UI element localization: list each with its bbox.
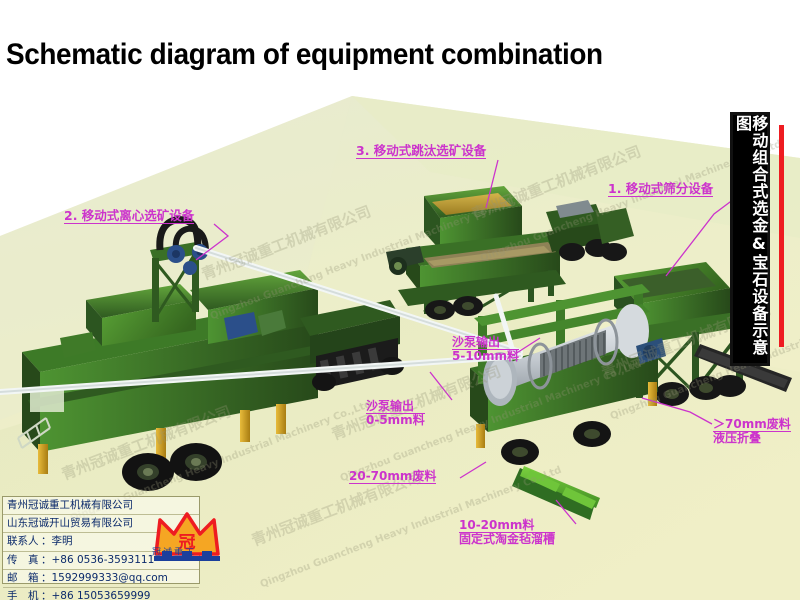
vertical-caption-text: 移动组合式选金&宝石设备示意图 — [734, 115, 767, 363]
callout-label-3: 3. 移动式跳汰选矿设备 — [356, 144, 486, 159]
contact-person-value: ：李明 — [41, 535, 73, 547]
flow-label-waste-over-70: ＞70mm废料 液压折叠 — [713, 418, 791, 446]
contact-mobile-key: 手 机 — [7, 588, 41, 600]
accent-red-bar — [779, 125, 784, 347]
flow-label-line1: 沙泵输出 — [366, 399, 414, 413]
flow-label-line2: 液压折叠 — [713, 431, 791, 445]
company-logo: 冠 冠诚重工 — [150, 508, 224, 570]
crown-logo-icon: 冠 — [150, 508, 224, 570]
contact-row-email[interactable]: 邮 箱：1592999333@qq.com — [3, 570, 199, 588]
vertical-caption-bar: 移动组合式选金&宝石设备示意图 — [730, 112, 770, 366]
contact-email-value[interactable]: ：1592999333@qq.com — [41, 572, 168, 584]
logo-caption: 冠诚重工 — [152, 545, 196, 558]
contact-person-key: 联系人 — [7, 533, 41, 550]
flow-label-line2: 5-10mm料 — [452, 349, 519, 363]
flow-label-sluice-10-20: 10-20mm料 固定式淘金毡溜槽 — [459, 519, 555, 547]
flow-label-line2: 固定式淘金毡溜槽 — [459, 532, 555, 546]
flow-label-line1: ＞70mm废料 — [713, 417, 791, 431]
contact-fax-value: ：+86 0536-3593111 — [41, 554, 154, 566]
contact-row-mobile: 手 机：+86 15053659999 — [3, 588, 199, 600]
flow-label-line1: 沙泵输出 — [452, 335, 500, 349]
flow-label-line2: 0-5mm料 — [366, 413, 425, 427]
flow-label-pump-5-10: 沙泵输出 5-10mm料 — [452, 336, 519, 364]
flow-label-pump-0-5: 沙泵输出 0-5mm料 — [366, 400, 425, 428]
flow-label-line1: 10-20mm料 — [459, 518, 534, 532]
contact-fax-key: 传 真 — [7, 552, 41, 569]
contact-email-key: 邮 箱 — [7, 570, 41, 587]
flow-label-waste-20-70: 20-70mm废料 — [349, 470, 436, 484]
callout-label-1: 1. 移动式筛分设备 — [608, 182, 713, 197]
callout-label-2: 2. 移动式离心选矿设备 — [64, 209, 194, 224]
diagram-canvas: Schematic diagram of equipment combinati… — [0, 0, 800, 600]
contact-company-name-1: 青州冠诚重工机械有限公司 — [7, 499, 133, 511]
contact-mobile-value: ：+86 15053659999 — [41, 590, 150, 600]
contact-company-name-2: 山东冠诚开山贸易有限公司 — [7, 517, 133, 529]
